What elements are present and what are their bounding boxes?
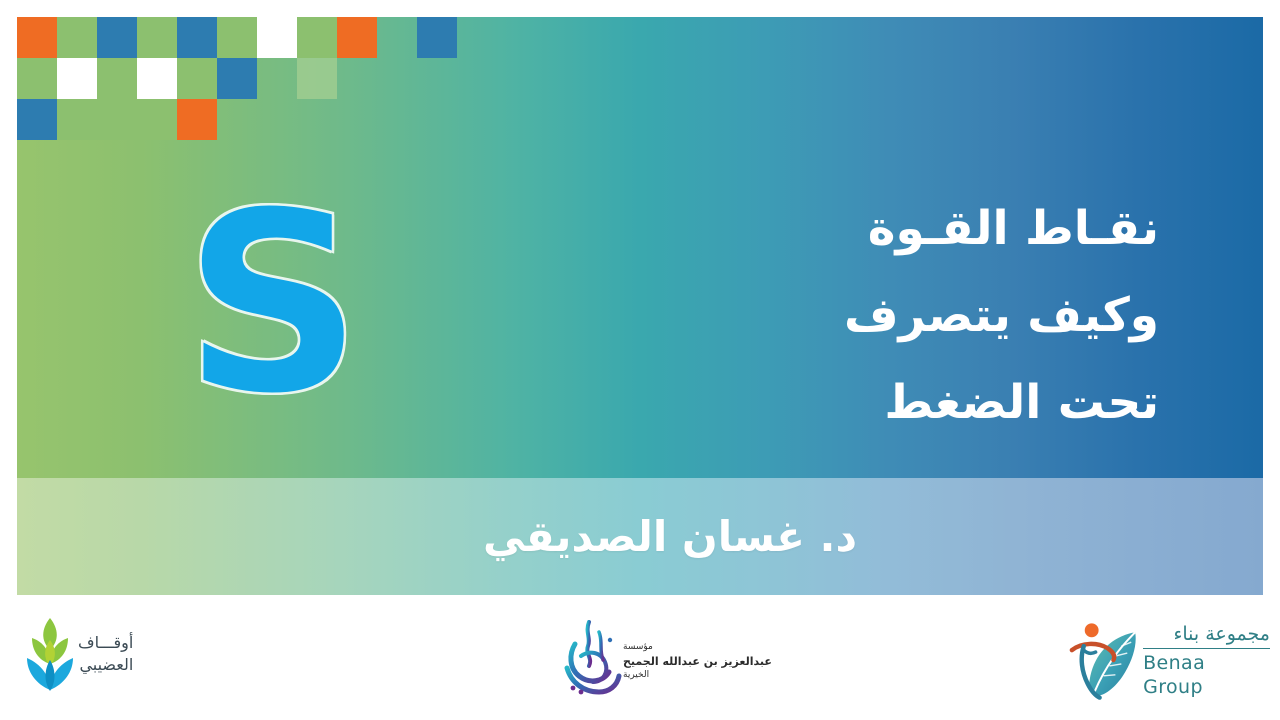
mosaic-decoration xyxy=(17,17,497,142)
logo-awqaf-alodaibi: أوقـــاف العضيبي xyxy=(22,616,145,692)
mosaic-cell-green xyxy=(17,58,57,99)
mosaic-cell-green xyxy=(297,17,337,58)
mosaic-cell-blue xyxy=(217,58,257,99)
logo-awqaf-line-2: العضيبي xyxy=(78,654,133,676)
logo-benaa-text: مجموعة بناء Benaa Group xyxy=(1143,622,1270,699)
mosaic-cell-green xyxy=(137,99,177,140)
mosaic-cell-green xyxy=(97,58,137,99)
logo-footer: أوقـــاف العضيبي xyxy=(0,598,1280,720)
mosaic-cell-green xyxy=(137,17,177,58)
logo-awqaf-text: أوقـــاف العضيبي xyxy=(78,632,133,676)
mosaic-cell-white xyxy=(137,58,177,99)
mosaic-cell-white xyxy=(257,17,297,58)
logo-benaa-group: مجموعة بناء Benaa Group xyxy=(1062,620,1280,700)
mosaic-cell-green xyxy=(57,99,97,140)
slide-title: نقـاط القـوة وكيف يتصرف تحت الضغط xyxy=(739,185,1159,446)
logo-jumaih-text: مؤسسة عبدالعزيز بن عبدالله الجميح الخيري… xyxy=(623,641,772,682)
title-line-1: نقـاط القـوة xyxy=(739,185,1159,272)
title-line-2: وكيف يتصرف xyxy=(739,272,1159,359)
mosaic-cell-orange xyxy=(17,17,57,58)
speaker-band: د. غسان الصديقي xyxy=(17,478,1263,595)
letter-s-badge: S xyxy=(213,189,363,419)
person-feather-icon xyxy=(1062,620,1143,700)
mosaic-cell-orange xyxy=(177,99,217,140)
mosaic-cell-white xyxy=(57,58,97,99)
mosaic-cell-blue xyxy=(17,99,57,140)
presentation-slide: S نقـاط القـوة وكيف يتصرف تحت الضغط د. غ… xyxy=(0,0,1280,720)
logo-awqaf-line-1: أوقـــاف xyxy=(78,632,133,654)
wheat-sheaf-icon xyxy=(22,616,78,692)
logo-jumaih-line-1: مؤسسة xyxy=(623,641,772,654)
arabic-calligraphy-icon xyxy=(555,620,623,702)
logo-benaa-english: Benaa Group xyxy=(1143,649,1270,699)
mosaic-cell-blue xyxy=(417,17,457,58)
mosaic-cell-blue xyxy=(177,17,217,58)
mosaic-cell-green xyxy=(217,17,257,58)
logo-aljumaih-foundation: مؤسسة عبدالعزيز بن عبدالله الجميح الخيري… xyxy=(555,620,780,702)
logo-benaa-arabic: مجموعة بناء xyxy=(1143,622,1270,649)
mosaic-cell-green xyxy=(97,99,137,140)
speaker-name: د. غسان الصديقي xyxy=(17,478,1263,595)
mosaic-cell-blue xyxy=(97,17,137,58)
logo-jumaih-line-2: عبدالعزيز بن عبدالله الجميح xyxy=(623,654,772,669)
mosaic-cell-green xyxy=(177,58,217,99)
mosaic-cell-light_green xyxy=(297,58,337,99)
logo-jumaih-line-3: الخيرية xyxy=(623,669,772,682)
title-line-3: تحت الضغط xyxy=(739,359,1159,446)
mosaic-cell-green xyxy=(57,17,97,58)
mosaic-cell-orange xyxy=(337,17,377,58)
